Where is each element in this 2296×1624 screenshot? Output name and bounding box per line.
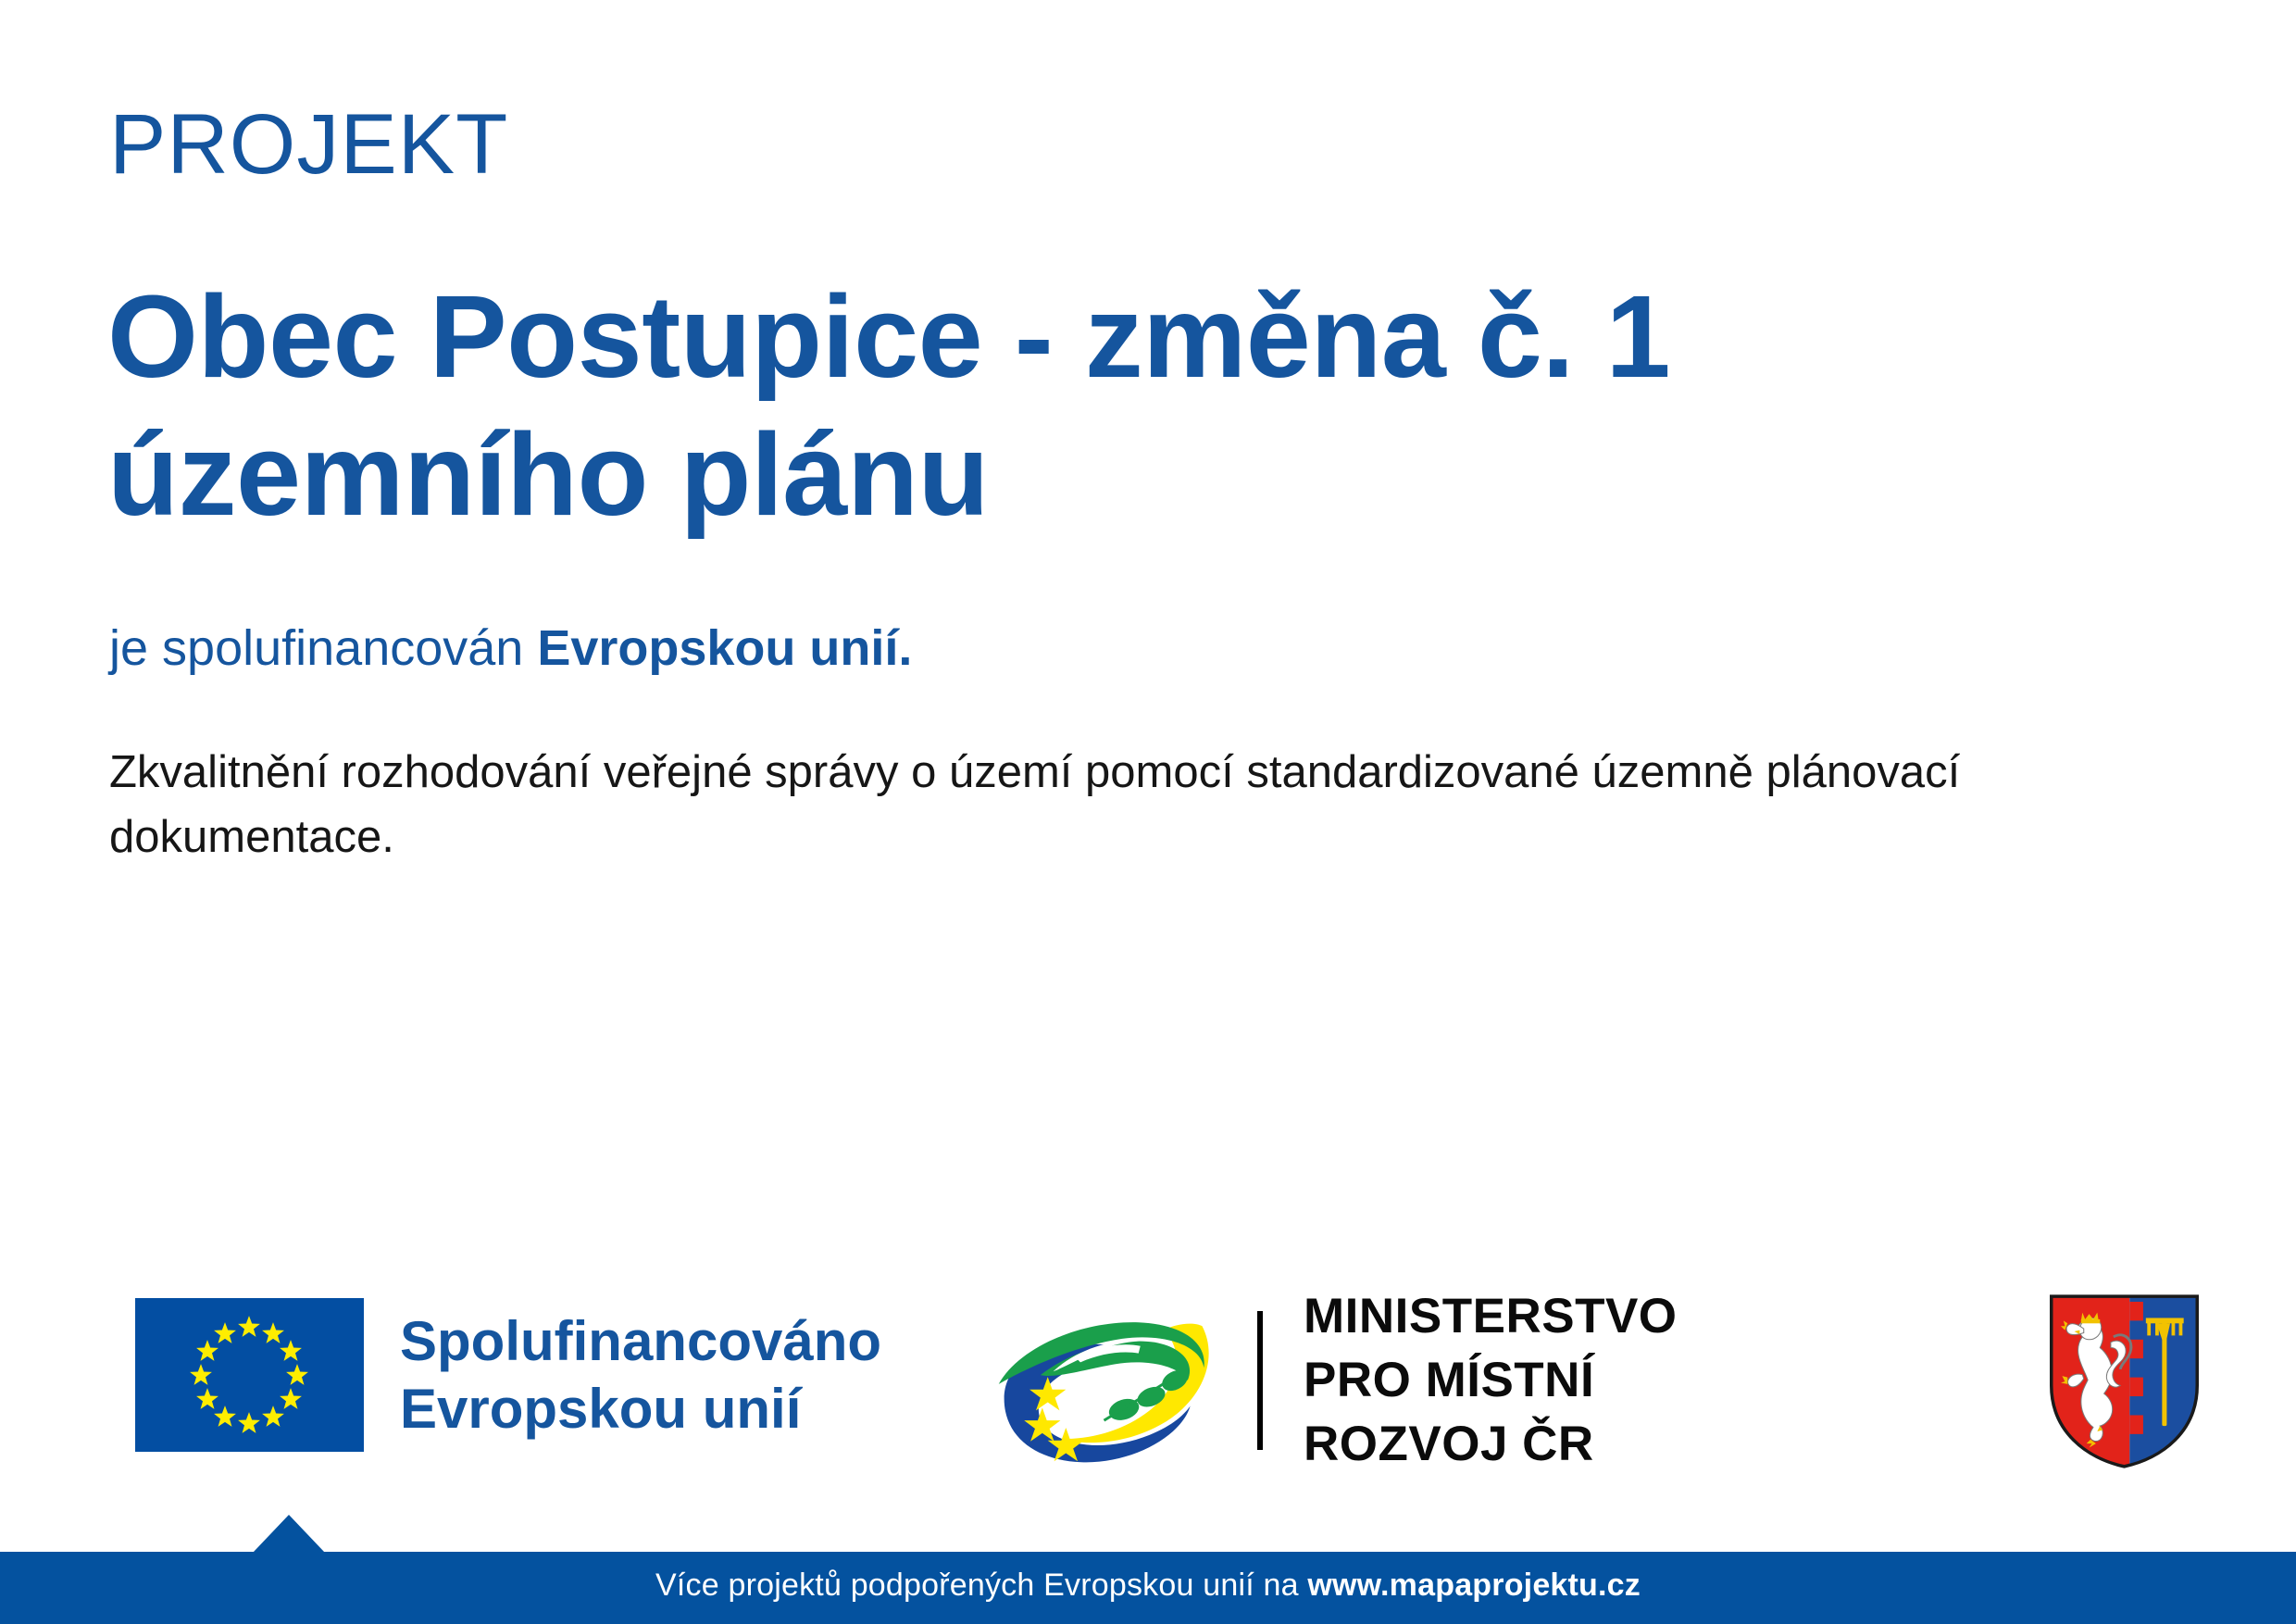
footer-notch bbox=[253, 1515, 325, 1553]
ministry-logo-text: MINISTERSTVO PRO MÍSTNÍ ROZVOJ ČR bbox=[1304, 1285, 1678, 1477]
ministry-logo-text-line-1: MINISTERSTVO bbox=[1304, 1285, 1678, 1349]
page-title: Obec Postupice - změna č. 1 územního plá… bbox=[107, 269, 1959, 543]
eu-logo-text-line-2: Evropskou unií bbox=[400, 1375, 881, 1443]
poster-kicker: PROJEKT bbox=[109, 102, 508, 187]
eu-logo-text-line-1: Spolufinancováno bbox=[400, 1307, 881, 1375]
project-poster: PROJEKT Obec Postupice - změna č. 1 územ… bbox=[0, 0, 2296, 1624]
footer-url[interactable]: www.mapaprojektu.cz bbox=[1307, 1568, 1641, 1603]
eu-star-icon bbox=[195, 1387, 219, 1411]
eu-logo: Spolufinancováno Evropskou unií bbox=[135, 1298, 881, 1452]
eu-logo-text: Spolufinancováno Evropskou unií bbox=[400, 1307, 881, 1443]
cofinancing-statement: je spolufinancován Evropskou unií. bbox=[109, 618, 912, 679]
ministry-logo-divider bbox=[1257, 1311, 1263, 1450]
cofinancing-statement-prefix: je spolufinancován bbox=[109, 620, 537, 676]
cofinancing-statement-emphasis: Evropskou unií. bbox=[537, 620, 912, 676]
project-description: Zkvalitnění rozhodování veřejné správy o… bbox=[109, 741, 2141, 869]
eu-star-icon bbox=[285, 1363, 309, 1387]
ministry-mark-icon bbox=[986, 1288, 1222, 1473]
ministry-logo: MINISTERSTVO PRO MÍSTNÍ ROZVOJ ČR bbox=[986, 1285, 1678, 1477]
coat-of-arms-icon bbox=[2043, 1291, 2205, 1472]
footer-text: Více projektů podpořených Evropskou unií… bbox=[0, 1567, 2296, 1605]
page-title-line-1: Obec Postupice - změna č. 1 bbox=[107, 269, 1959, 406]
eu-star-icon bbox=[279, 1339, 303, 1363]
eu-flag-icon bbox=[135, 1298, 364, 1452]
eu-star-icon bbox=[237, 1411, 261, 1435]
footer-text-prefix: Více projektů podpořených Evropskou unií… bbox=[655, 1568, 1307, 1603]
ministry-logo-text-line-3: ROZVOJ ČR bbox=[1304, 1413, 1678, 1477]
eu-star-icon bbox=[261, 1405, 285, 1429]
eu-star-icon bbox=[237, 1315, 261, 1339]
ministry-logo-text-line-2: PRO MÍSTNÍ bbox=[1304, 1349, 1678, 1413]
eu-star-icon bbox=[213, 1321, 237, 1345]
logo-row: Spolufinancováno Evropskou unií bbox=[0, 1278, 2296, 1481]
eu-star-icon bbox=[189, 1363, 213, 1387]
page-title-line-2: územního plánu bbox=[107, 406, 1959, 544]
